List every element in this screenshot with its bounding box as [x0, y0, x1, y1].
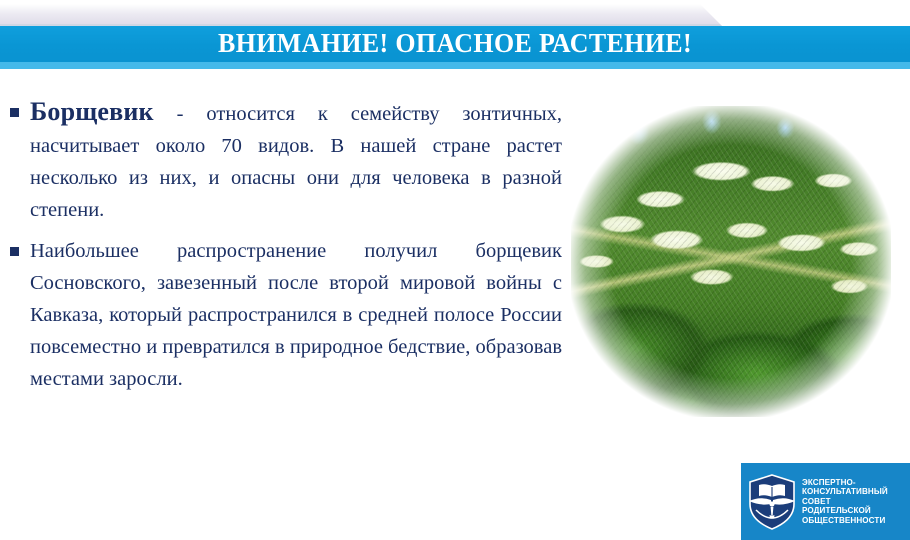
bullet-square-icon — [10, 108, 19, 117]
logo-line: ЭКСПЕРТНО- — [802, 478, 910, 488]
shield-emblem-icon — [747, 474, 797, 530]
header-blue-band-accent — [0, 62, 910, 69]
organisation-logo: ЭКСПЕРТНО- КОНСУЛЬТАТИВНЫЙ СОВЕТ РОДИТЕЛ… — [741, 463, 910, 540]
bullet-item: Борщевик - относится к семейству зонтичн… — [10, 96, 562, 226]
bullet-lead-word: Борщевик — [30, 97, 154, 126]
bullet-text: Наибольшее распространение получил борще… — [30, 235, 562, 395]
bullet-body-text: Наибольшее распространение получил борще… — [30, 240, 562, 390]
bullet-text: Борщевик - относится к семейству зонтичн… — [30, 96, 562, 226]
slide-title: ВНИМАНИЕ! ОПАСНОЕ РАСТЕНИЕ! — [18, 26, 892, 62]
slide-header: ВНИМАНИЕ! ОПАСНОЕ РАСТЕНИЕ! — [0, 0, 910, 72]
slide-body: Борщевик - относится к семейству зонтичн… — [10, 96, 562, 395]
organisation-logo-text: ЭКСПЕРТНО- КОНСУЛЬТАТИВНЫЙ СОВЕТ РОДИТЕЛ… — [802, 478, 910, 526]
logo-line: РОДИТЕЛЬСКОЙ — [802, 506, 910, 516]
logo-line: КОНСУЛЬТАТИВНЫЙ — [802, 487, 910, 497]
hogweed-photo-texture — [571, 106, 891, 417]
bullet-item: Наибольшее распространение получил борще… — [10, 235, 562, 395]
hogweed-photo — [571, 106, 891, 417]
logo-line: СОВЕТ — [802, 497, 910, 507]
header-decorative-lavender-band — [0, 4, 722, 26]
logo-line: ОБЩЕСТВЕННОСТИ — [802, 516, 910, 526]
bullet-square-icon — [10, 247, 19, 256]
